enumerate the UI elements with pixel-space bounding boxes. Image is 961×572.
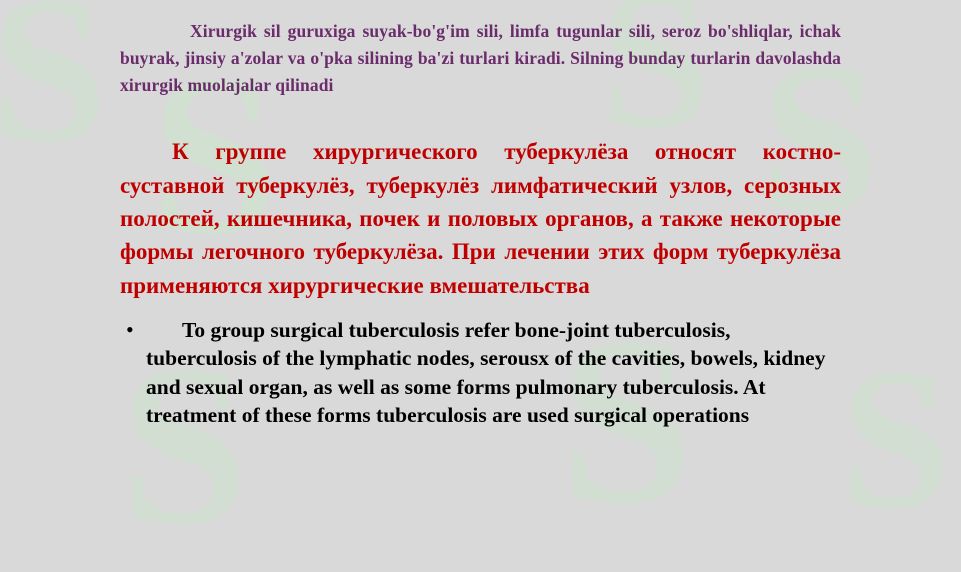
english-bullet-item: • To group surgical tuberculosis refer b… (120, 316, 841, 430)
bullet-marker-icon: • (120, 316, 146, 345)
russian-paragraph: К группе хирургического туберкулёза отно… (120, 135, 841, 302)
slide-content: Xirurgik sil guruxiga suyak-bo'g'im sili… (0, 0, 961, 540)
paragraph-spacer (120, 99, 841, 135)
english-paragraph: To group surgical tuberculosis refer bon… (146, 316, 841, 430)
uzbek-paragraph: Xirurgik sil guruxiga suyak-bo'g'im sili… (120, 18, 841, 99)
